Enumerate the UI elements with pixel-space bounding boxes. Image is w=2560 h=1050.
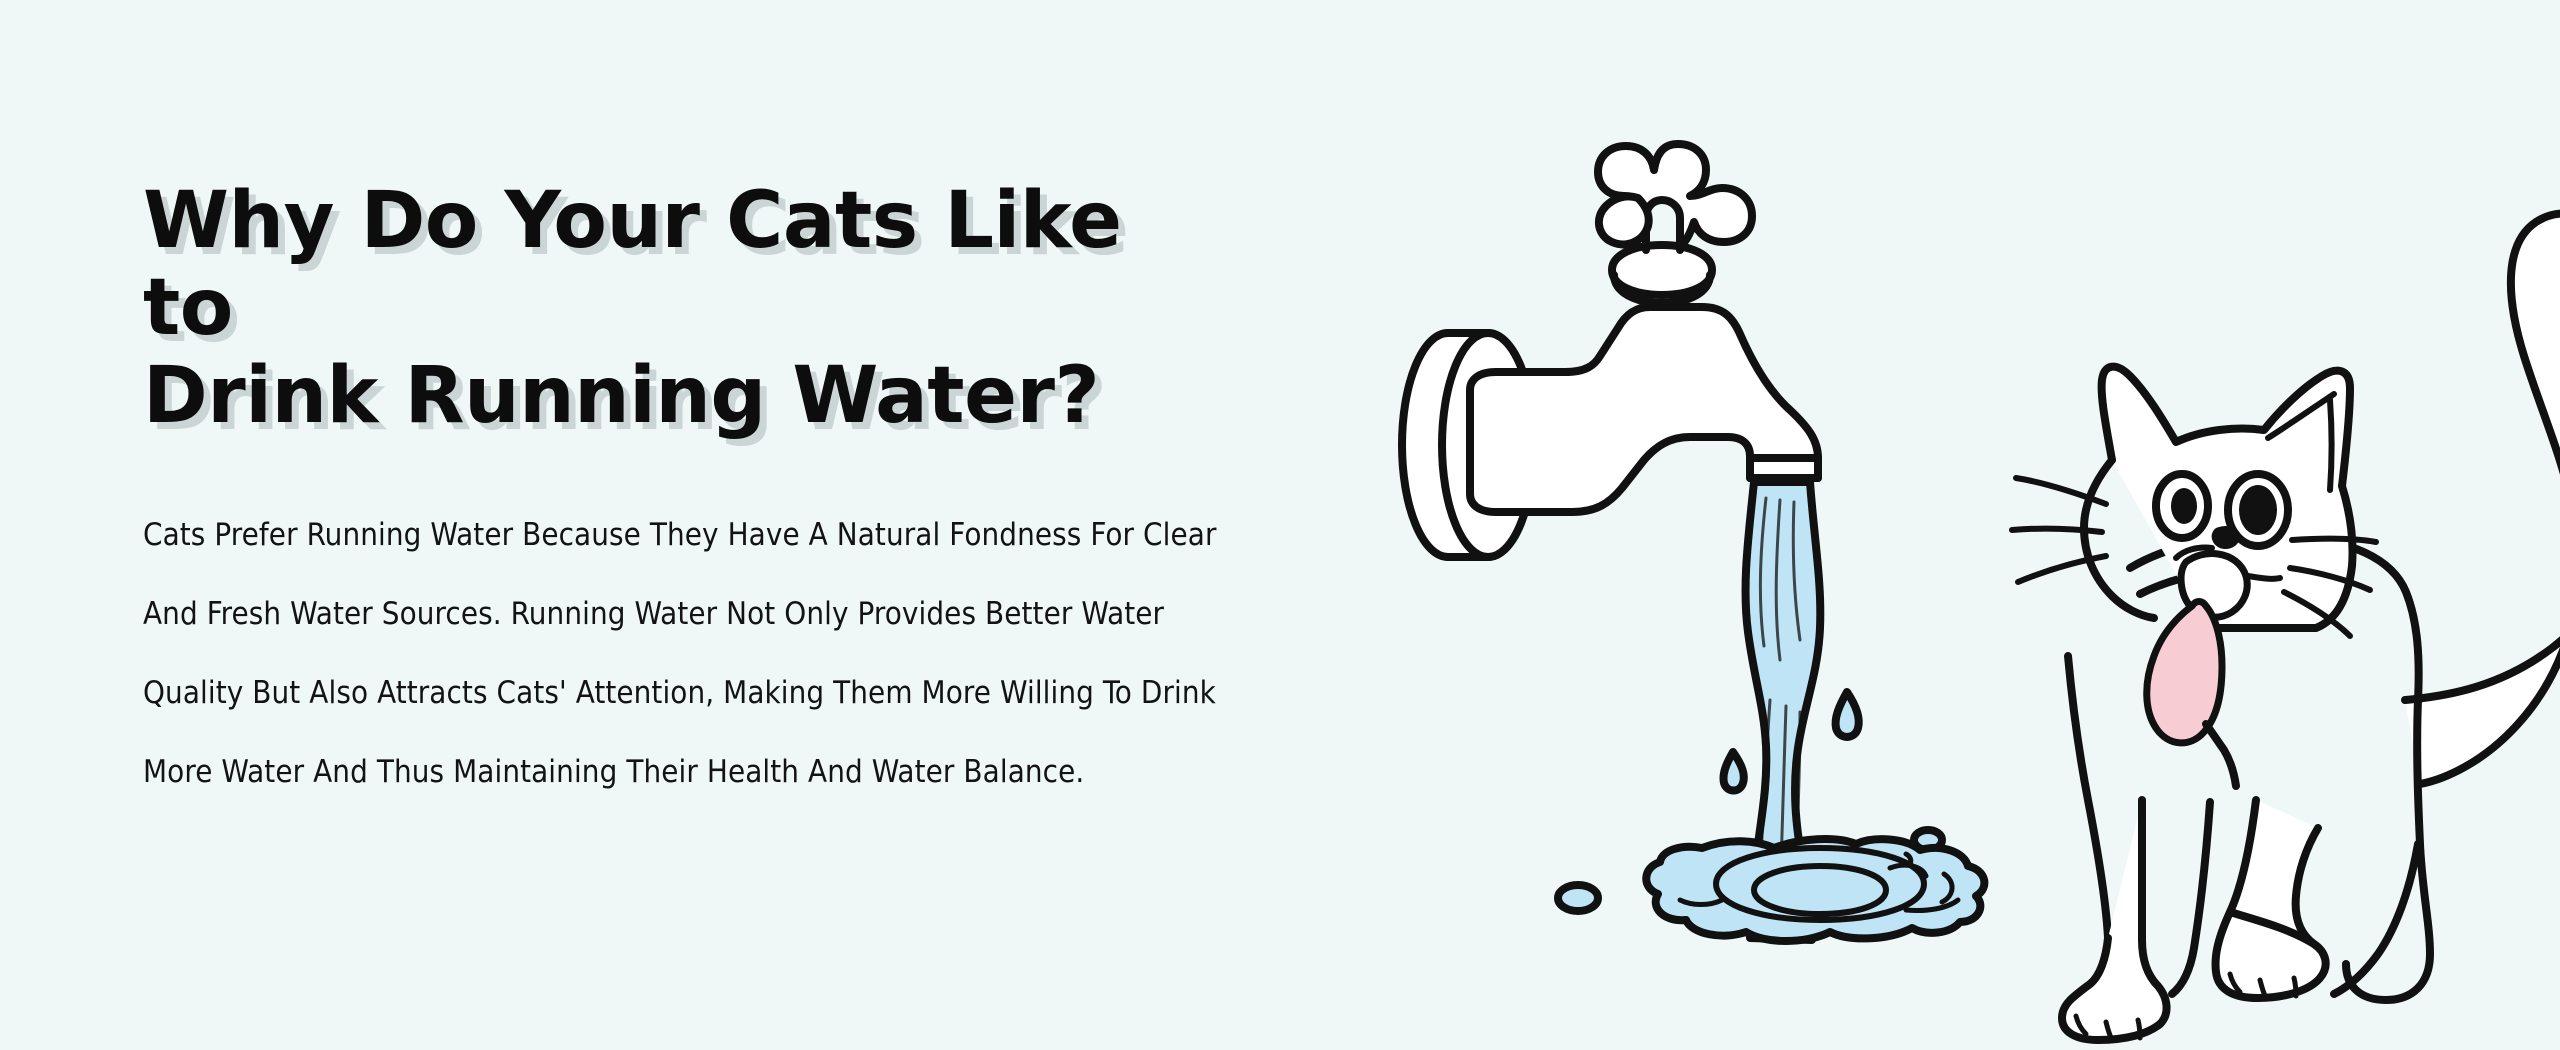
water-puddle-icon [1646, 839, 1984, 941]
illustration [1350, 100, 2560, 1050]
cat-hind-leg-near-icon [2216, 800, 2326, 998]
page-title: Why Do Your Cats Like to Drink Running W… [143, 178, 1233, 440]
cat-tongue-icon [2147, 602, 2222, 743]
text-column: Why Do Your Cats Like to Drink Running W… [143, 178, 1263, 812]
cat-tail-icon [2405, 213, 2560, 784]
faucet-handle-left-lobe-icon [1599, 196, 1649, 244]
cat-mouth-cheek-icon [2248, 576, 2280, 579]
faucet-collar-icon [1612, 245, 1712, 295]
cat-front-leg-far-icon [2172, 802, 2210, 994]
cat-inner-ear-line2-icon [2330, 400, 2332, 490]
faucet-spout-band-icon [1750, 458, 1818, 478]
page-canvas: Why Do Your Cats Like to Drink Running W… [0, 0, 2560, 1050]
cat-pupil-right-icon [2239, 485, 2277, 535]
illustration-svg [1350, 100, 2560, 1050]
cat-tongue-neck-icon [2206, 724, 2236, 786]
cat-front-leg-near-icon [2062, 800, 2167, 1040]
cat-pupil-left-icon [2171, 488, 2197, 524]
cartoon-cat-icon [2012, 213, 2560, 1040]
page-body-text: Cats Prefer Running Water Because They H… [143, 496, 1233, 812]
cat-chest-icon [2068, 656, 2108, 938]
